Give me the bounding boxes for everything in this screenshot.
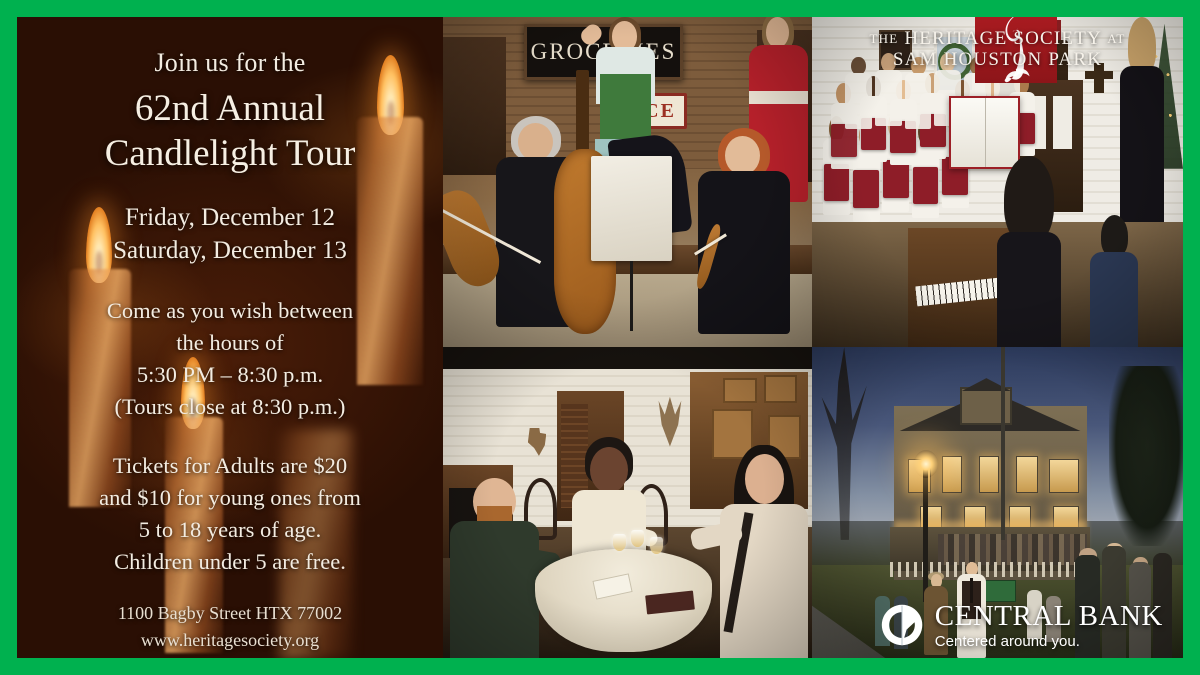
ticket-youth-ages: 5 to 18 years of age. (17, 514, 443, 546)
logo-line-1: THE HERITAGE SOCIETY AT (869, 29, 1125, 50)
porch-railing (890, 562, 1090, 578)
lit-window (1049, 459, 1079, 493)
head (1101, 215, 1128, 257)
person-pianist (994, 156, 1064, 347)
hours-line-2: the hours of (17, 327, 443, 359)
central-bank-tagline: Centered around you. (935, 634, 1163, 649)
head (518, 123, 553, 162)
street-lamp-light-icon (914, 450, 938, 478)
sash (749, 91, 808, 104)
ticket-adult-price: Tickets for Adults are $20 (17, 450, 443, 482)
wooden-crate (723, 378, 756, 403)
porch-crowd (938, 534, 1086, 565)
event-title-line2: Candlelight Tour (17, 131, 443, 176)
event-date-friday: Friday, December 12 (17, 201, 443, 234)
ticket-pricing: Tickets for Adults are $20 and $10 for y… (17, 450, 443, 578)
black-outfit (997, 232, 1062, 347)
heritage-society-logo-text: THE HERITAGE SOCIETY AT SAM HOUSTON PARK (812, 17, 1183, 83)
event-title-line1: 62nd Annual (17, 86, 443, 131)
head (590, 447, 628, 494)
central-bank-name: CENTRAL BANK (935, 602, 1163, 631)
join-line: Join us for the (17, 48, 443, 78)
heritage-society-logo: THE HERITAGE SOCIETY AT SAM HOUSTON PARK (812, 17, 1183, 83)
wooden-crate (764, 375, 797, 403)
hair (1004, 156, 1055, 244)
event-date-saturday: Saturday, December 13 (17, 234, 443, 267)
logo-heritage-society: HERITAGE SOCIETY (904, 28, 1101, 49)
person-violinist-right (698, 136, 790, 334)
ticket-children-free: Children under 5 are free. (17, 546, 443, 578)
logo-at: AT (1107, 31, 1125, 46)
drink-glass (613, 534, 626, 551)
person-man-green-jacket (450, 478, 539, 658)
lit-window (942, 456, 962, 493)
central-bank-wordmark: CENTRAL BANK Centered around you. (935, 602, 1163, 649)
invite-text-panel: Join us for the 62nd Annual Candlelight … (17, 17, 443, 658)
photo-choir: THE HERITAGE SOCIETY AT SAM HOUSTON PARK (812, 17, 1183, 347)
photo-musicians: GROCERIES ICE (443, 17, 812, 347)
person-seated-boy (1090, 215, 1138, 347)
lit-window (979, 456, 999, 493)
hours-time-range: 5:30 PM – 8:30 p.m. (17, 359, 443, 391)
logo-sam-houston-park: SAM HOUSTON PARK (893, 50, 1102, 71)
choir-folder (853, 170, 879, 208)
drink-glass (650, 537, 663, 554)
pulpit-panel (1053, 96, 1072, 149)
blue-jacket (1090, 252, 1138, 347)
green-jacket (450, 521, 539, 658)
event-title: 62nd Annual Candlelight Tour (17, 86, 443, 176)
event-poster: Join us for the 62nd Annual Candlelight … (0, 0, 1200, 675)
logo-the: THE (869, 31, 898, 46)
sheet-music-stand (591, 156, 672, 262)
choir-folder (913, 167, 939, 205)
venue-address: 1100 Bagby Street HTX 77002 (17, 600, 443, 627)
website-url[interactable]: www.heritagesociety.org (17, 627, 443, 654)
choir-folder (824, 164, 850, 202)
hours-close-note: (Tours close at 8:30 p.m.) (17, 391, 443, 423)
photo-grid: GROCERIES ICE (443, 17, 1183, 658)
choir-folder (883, 160, 909, 198)
hours-line-1: Come as you wish between (17, 295, 443, 327)
central-bank-logo: CENTRAL BANK Centered around you. (864, 602, 1176, 649)
black-outfit (1120, 66, 1165, 221)
flag-pole (1001, 347, 1005, 540)
event-hours: Come as you wish between the hours of 5:… (17, 295, 443, 423)
photo-tasting (443, 347, 812, 658)
tree-icon (1109, 366, 1183, 546)
invite-text-content: Join us for the 62nd Annual Candlelight … (17, 17, 443, 654)
venue-contact: 1100 Bagby Street HTX 77002 www.heritage… (17, 600, 443, 654)
event-dates: Friday, December 12 Saturday, December 1… (17, 201, 443, 267)
photo-historic-house: CENTRAL BANK Centered around you. (812, 347, 1183, 658)
head (745, 454, 784, 504)
dark-ceiling (443, 347, 812, 369)
person-woman-right (720, 450, 809, 658)
central-bank-circle-leaf-icon (879, 602, 925, 648)
ticket-youth-price: and $10 for young ones from (17, 482, 443, 514)
lit-window (1016, 456, 1038, 493)
